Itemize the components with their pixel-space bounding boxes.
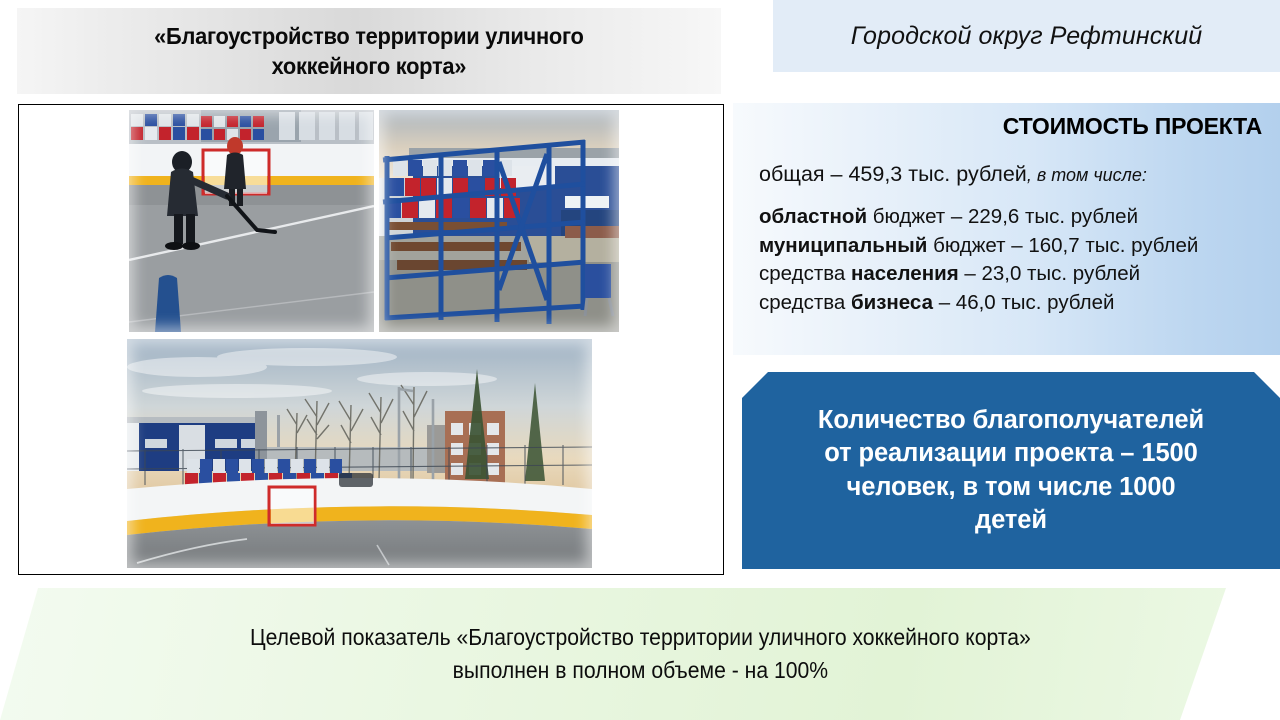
- cost-line-population-prefix: средства: [759, 262, 851, 285]
- cost-line-regional: областной бюджет – 229,6 тыс. рублей: [759, 203, 1266, 232]
- cost-line-regional-value: бюджет – 229,6 тыс. рублей: [867, 205, 1138, 228]
- cost-line-municipal: муниципальный бюджет – 160,7 тыс. рублей: [759, 232, 1266, 261]
- municipality-header: Городской округ Рефтинский: [773, 0, 1280, 72]
- target-indicator-text: Целевой показатель «Благоустройство терр…: [250, 621, 1031, 688]
- photo-collage-frame: [18, 104, 724, 575]
- page-title: «Благоустройство территории уличного хок…: [154, 21, 583, 81]
- cost-line-municipal-value: бюджет – 160,7 тыс. рублей: [927, 234, 1198, 257]
- cost-line-regional-label: областной: [759, 205, 867, 228]
- cost-line-municipal-label: муниципальный: [759, 234, 927, 257]
- cost-total-value: общая – 459,3 тыс. рублей: [759, 162, 1027, 186]
- photo-rink-panorama: [127, 339, 592, 568]
- cost-line-business-value: – 46,0 тыс. рублей: [933, 291, 1114, 314]
- photo-stands-frame: [379, 110, 619, 332]
- cost-line-population: средства населения – 23,0 тыс. рублей: [759, 260, 1266, 289]
- target-indicator-banner: Целевой показатель «Благоустройство терр…: [0, 588, 1280, 720]
- cost-line-business: средства бизнеса – 46,0 тыс. рублей: [759, 289, 1266, 318]
- cost-line-business-prefix: средства: [759, 291, 851, 314]
- cost-line-business-label: бизнеса: [851, 291, 933, 314]
- municipality-name: Городской округ Рефтинский: [851, 22, 1202, 51]
- cost-total-suffix: , в том числе:: [1027, 165, 1147, 185]
- beneficiaries-banner: Количество благополучателей от реализаци…: [742, 372, 1280, 569]
- beneficiaries-text: Количество благополучателей от реализаци…: [818, 404, 1204, 537]
- project-cost-box: СТОИМОСТЬ ПРОЕКТА общая – 459,3 тыс. руб…: [733, 103, 1280, 355]
- cost-line-population-value: – 23,0 тыс. рублей: [959, 262, 1140, 285]
- cost-breakdown-list: областной бюджет – 229,6 тыс. рублей мун…: [747, 203, 1266, 318]
- cost-heading: СТОИМОСТЬ ПРОЕКТА: [747, 113, 1266, 140]
- cost-line-population-label: населения: [851, 262, 959, 285]
- cost-total-line: общая – 459,3 тыс. рублей, в том числе:: [747, 162, 1266, 187]
- photo-hockey-player: [129, 110, 374, 332]
- project-title-box: «Благоустройство территории уличного хок…: [17, 8, 721, 94]
- slide-root: «Благоустройство территории уличного хок…: [0, 0, 1280, 720]
